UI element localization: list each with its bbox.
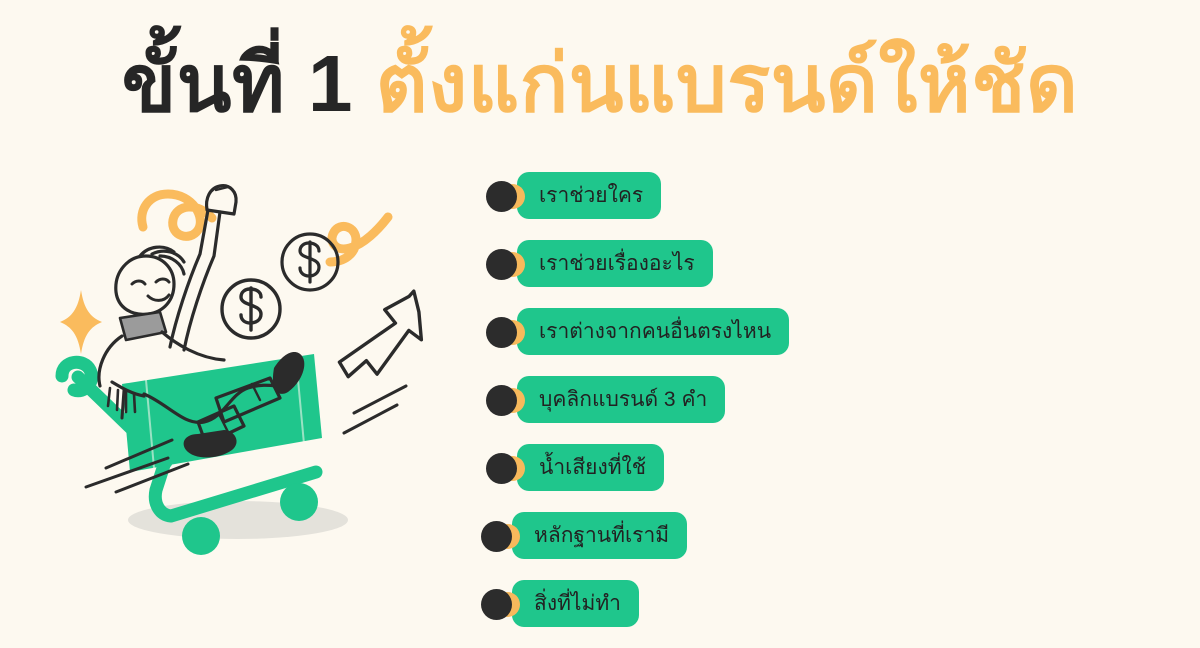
- bullet-group: [481, 514, 525, 558]
- checklist-pill[interactable]: เราช่วยเรื่องอะไร: [517, 240, 713, 287]
- page-title: ขั้นที่ 1 ตั้งแก่นแบรนด์ให้ชัด: [0, 44, 1200, 124]
- checklist-pill[interactable]: เราช่วยใคร: [517, 172, 661, 219]
- page-title-step: ขั้นที่ 1: [122, 39, 353, 128]
- checklist-item-label: น้ำเสียงที่ใช้: [539, 457, 646, 478]
- checklist-pill[interactable]: บุคลิกแบรนด์ 3 คำ: [517, 376, 725, 423]
- checklist-item-label: เราต่างจากคนอื่นตรงไหน: [539, 321, 771, 342]
- filled-circle-icon: [486, 249, 517, 280]
- person-face-icon: [132, 279, 169, 300]
- bullet-group: [486, 378, 530, 422]
- bullet-group: [486, 174, 530, 218]
- person-fist-icon: [207, 186, 237, 214]
- dollar-coin-icon: [222, 280, 280, 338]
- bullet-group: [486, 310, 530, 354]
- title-space: [353, 39, 376, 128]
- filled-circle-icon: [486, 317, 517, 348]
- cart-wheel-icon: [182, 517, 220, 555]
- arrow-up-right-icon: [336, 291, 423, 377]
- checklist: เราช่วยใคร เราช่วยเรื่องอะไร เราต่างจากค…: [486, 172, 1106, 648]
- squiggle-icon: [142, 194, 212, 236]
- bullet-group: [486, 242, 530, 286]
- checklist-item-label: บุคลิกแบรนด์ 3 คำ: [539, 389, 707, 410]
- slide-canvas: ขั้นที่ 1 ตั้งแก่นแบรนด์ให้ชัด: [0, 0, 1200, 628]
- checklist-pill[interactable]: เราต่างจากคนอื่นตรงไหน: [517, 308, 789, 355]
- filled-circle-icon: [486, 385, 517, 416]
- list-item[interactable]: เราช่วยเรื่องอะไร: [486, 240, 1106, 287]
- speed-lines-icon: [344, 386, 406, 433]
- filled-circle-icon: [486, 453, 517, 484]
- cart-post-icon: [122, 390, 124, 418]
- page-title-subject: ตั้งแก่นแบรนด์ให้ชัด: [376, 39, 1079, 128]
- filled-circle-icon: [486, 181, 517, 212]
- list-item[interactable]: เราต่างจากคนอื่นตรงไหน: [486, 308, 1106, 355]
- list-item[interactable]: เราช่วยใคร: [486, 172, 1106, 219]
- bullet-group: [481, 582, 525, 626]
- checklist-pill[interactable]: สิ่งที่ไม่ทำ: [512, 580, 639, 627]
- person-riding-shopping-cart-illustration: [48, 172, 478, 582]
- filled-circle-icon: [481, 589, 512, 620]
- list-item[interactable]: หลักฐานที่เรามี: [481, 512, 1106, 559]
- cart-wheel-icon: [280, 483, 318, 521]
- checklist-item-label: สิ่งที่ไม่ทำ: [534, 593, 621, 614]
- person-scarf-icon: [120, 312, 166, 340]
- list-item[interactable]: สิ่งที่ไม่ทำ: [481, 580, 1106, 627]
- bullet-group: [486, 446, 530, 490]
- filled-circle-icon: [481, 521, 512, 552]
- checklist-item-label: หลักฐานที่เรามี: [534, 525, 669, 546]
- sparkle-icon: [60, 290, 102, 354]
- checklist-item-label: เราช่วยใคร: [539, 185, 643, 206]
- list-item[interactable]: น้ำเสียงที่ใช้: [486, 444, 1106, 491]
- checklist-pill[interactable]: หลักฐานที่เรามี: [512, 512, 687, 559]
- list-item[interactable]: บุคลิกแบรนด์ 3 คำ: [486, 376, 1106, 423]
- checklist-item-label: เราช่วยเรื่องอะไร: [539, 253, 695, 274]
- checklist-pill[interactable]: น้ำเสียงที่ใช้: [517, 444, 664, 491]
